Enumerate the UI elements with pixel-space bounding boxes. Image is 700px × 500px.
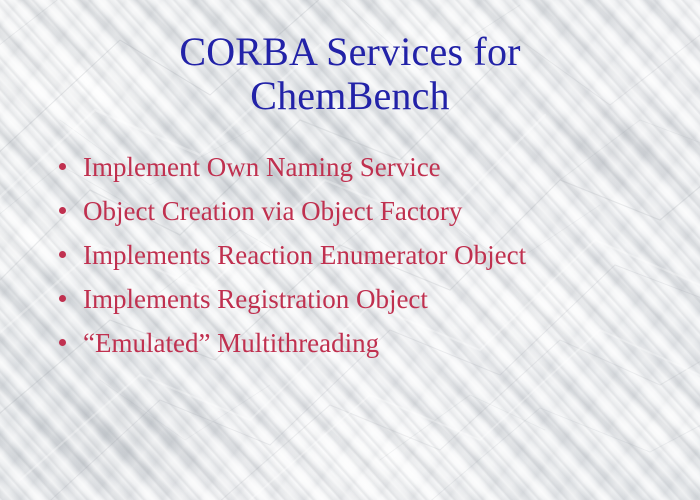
bullet-list: Implement Own Naming Service Object Crea… — [56, 145, 676, 365]
bullet-dot-icon — [59, 339, 66, 346]
bullet-item-2: Object Creation via Object Factory — [56, 189, 676, 233]
bullet-dot-icon — [59, 251, 66, 258]
bullet-item-4: Implements Registration Object — [56, 277, 676, 321]
bullet-dot-icon — [59, 207, 66, 214]
bullet-dot-icon — [59, 295, 66, 302]
bullet-dot-icon — [59, 163, 66, 170]
bullet-item-1: Implement Own Naming Service — [56, 145, 676, 189]
bullet-item-5: “Emulated” Multithreading — [56, 321, 676, 365]
slide-title: CORBA Services for ChemBench — [0, 30, 700, 118]
bullet-item-3: Implements Reaction Enumerator Object — [56, 233, 676, 277]
bullet-item-label: “Emulated” Multithreading — [83, 328, 379, 358]
bullet-item-label: Implement Own Naming Service — [83, 152, 441, 182]
slide-content: CORBA Services for ChemBench Implement O… — [0, 0, 700, 500]
slide-title-line-1: CORBA Services for — [0, 30, 700, 74]
bullet-item-label: Implements Registration Object — [83, 284, 428, 314]
slide-title-line-2: ChemBench — [0, 74, 700, 118]
bullet-item-label: Object Creation via Object Factory — [83, 196, 462, 226]
presentation-slide: CORBA Services for ChemBench Implement O… — [0, 0, 700, 500]
bullet-item-label: Implements Reaction Enumerator Object — [83, 240, 526, 270]
